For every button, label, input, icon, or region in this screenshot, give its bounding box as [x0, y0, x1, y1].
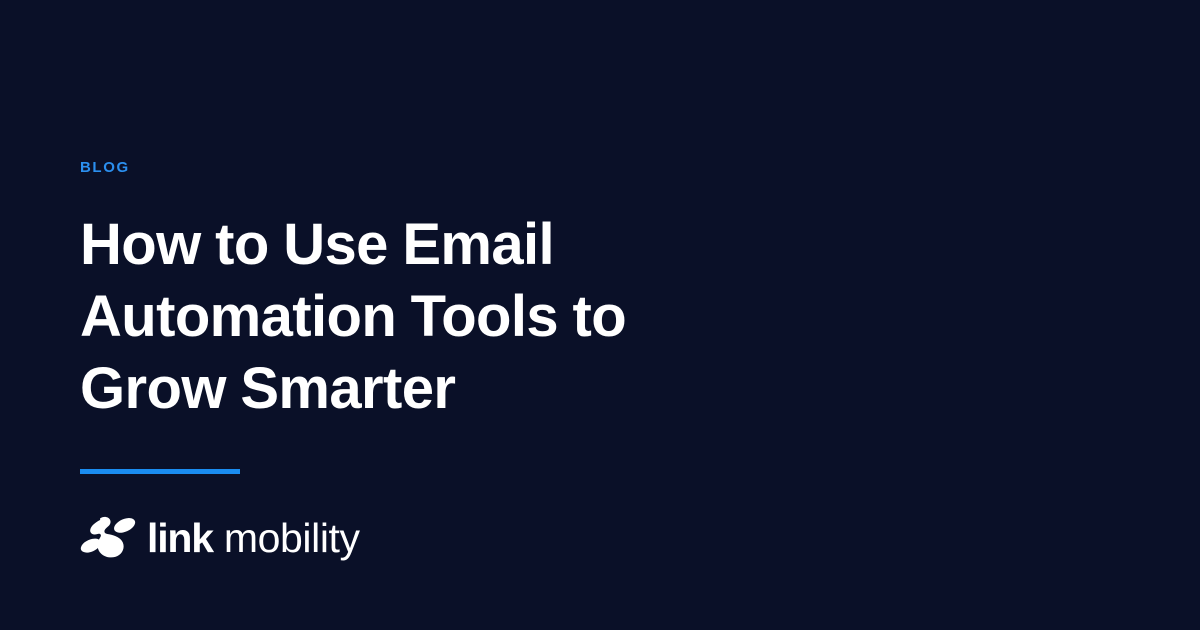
page-title: How to Use Email Automation Tools to Gro…: [80, 209, 740, 425]
accent-divider: [80, 469, 240, 474]
card-content: BLOG How to Use Email Automation Tools t…: [80, 160, 780, 561]
brand-wordmark-mobility: mobility: [224, 518, 360, 559]
headline-line-1: How to Use Email: [80, 212, 554, 277]
headline-line-2: Automation Tools to: [80, 284, 626, 349]
headline-line-3: Grow Smarter: [80, 356, 455, 421]
link-mobility-blob-mark-icon: [80, 515, 138, 561]
brand-wordmark: link mobility: [147, 518, 360, 559]
brand-wordmark-link: link: [147, 518, 213, 559]
category-eyebrow-blog: BLOG: [80, 160, 780, 175]
social-share-card: BLOG How to Use Email Automation Tools t…: [0, 0, 1200, 630]
brand-logo: link mobility: [80, 515, 780, 561]
